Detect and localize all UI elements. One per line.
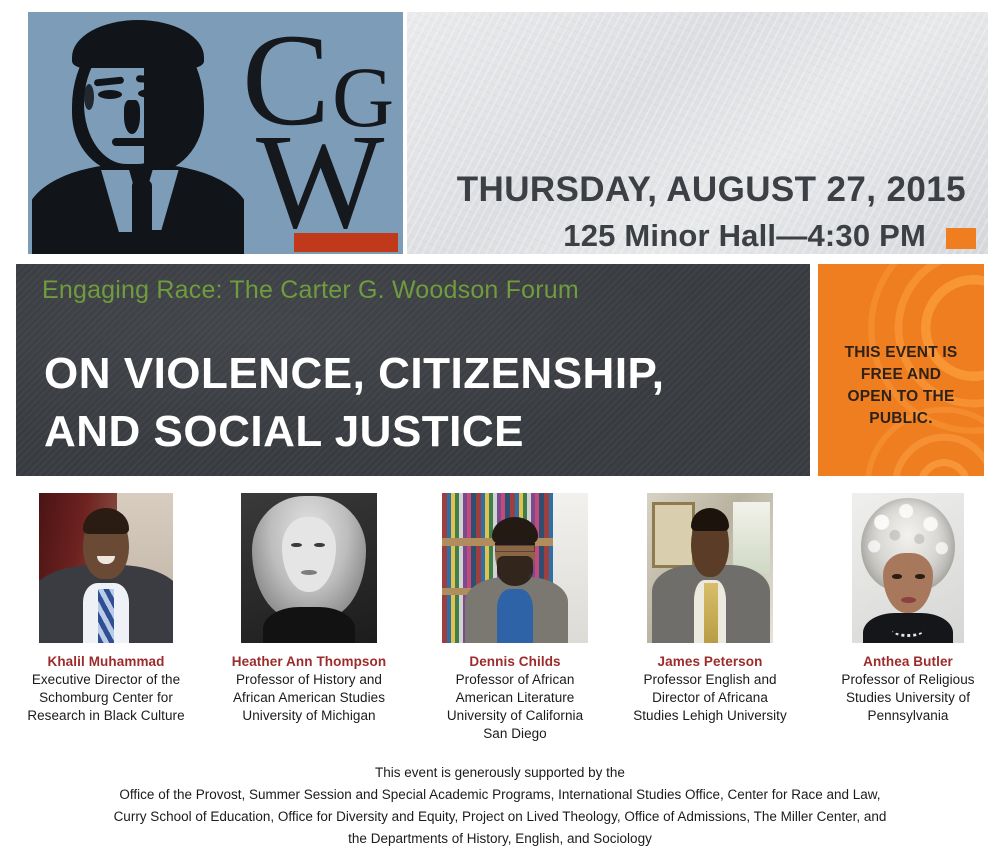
speaker-role-line: Research in Black Culture	[11, 707, 201, 725]
speaker-role: Professor of African American Literature…	[422, 671, 608, 743]
speaker-photo-dennis-childs	[441, 492, 589, 644]
speaker-photo-anthea-butler	[851, 492, 965, 644]
free-line-1: THIS EVENT IS	[818, 342, 984, 364]
poster-header: C G W THURSDAY, AUGUST 27, 2015 125 Mino…	[0, 0, 1000, 258]
speaker-name: Dennis Childs	[422, 653, 608, 671]
speaker-anthea-butler: Anthea Butler Professor of Religious Stu…	[851, 492, 965, 725]
date-accent-block	[946, 228, 976, 249]
speaker-role-line: Studies University of	[825, 689, 991, 707]
sponsors-line: This event is generously supported by th…	[0, 762, 1000, 784]
cgw-monogram: C G W	[236, 12, 403, 254]
speaker-role-line: African American Studies	[211, 689, 407, 707]
free-line-4: PUBLIC.	[818, 408, 984, 430]
speaker-name: Khalil Muhammad	[11, 653, 201, 671]
speaker-role-line: University of Michigan	[211, 707, 407, 725]
sponsors-block: This event is generously supported by th…	[0, 762, 1000, 849]
speaker-caption: James Peterson Professor English and Dir…	[612, 653, 808, 725]
speaker-role-line: University of California	[422, 707, 608, 725]
free-line-3: OPEN TO THE	[818, 386, 984, 408]
event-date: THURSDAY, AUGUST 27, 2015	[457, 170, 966, 210]
title-band: Engaging Race: The Carter G. Woodson For…	[16, 264, 810, 476]
speaker-role-line: Professor English and	[612, 671, 808, 689]
speaker-list: Khalil Muhammad Executive Director of th…	[0, 492, 1000, 762]
monogram-letter-w: W	[256, 114, 384, 250]
speaker-role-line: San Diego	[422, 725, 608, 743]
speaker-role-line: Executive Director of the	[11, 671, 201, 689]
woodson-portrait-icon	[32, 12, 244, 254]
sponsors-line: Office of the Provost, Summer Session an…	[0, 784, 1000, 806]
free-admission-box: THIS EVENT IS FREE AND OPEN TO THE PUBLI…	[818, 264, 984, 476]
woodson-logo-panel: C G W	[28, 12, 403, 254]
speaker-role: Executive Director of the Schomburg Cent…	[11, 671, 201, 725]
speaker-photo-khalil-muhammad	[38, 492, 174, 644]
free-admission-text: THIS EVENT IS FREE AND OPEN TO THE PUBLI…	[818, 342, 984, 430]
speaker-james-peterson: James Peterson Professor English and Dir…	[646, 492, 774, 725]
poster-title-line-2: AND SOCIAL JUSTICE	[44, 407, 524, 457]
speaker-role-line: Director of Africana	[612, 689, 808, 707]
speaker-caption: Dennis Childs Professor of African Ameri…	[422, 653, 608, 743]
speaker-role-line: Studies Lehigh University	[612, 707, 808, 725]
speaker-caption: Heather Ann Thompson Professor of Histor…	[211, 653, 407, 725]
speaker-role-line: Professor of History and	[211, 671, 407, 689]
speaker-role: Professor of Religious Studies Universit…	[825, 671, 991, 725]
monogram-accent-bar	[294, 233, 398, 252]
speaker-role: Professor English and Director of Africa…	[612, 671, 808, 725]
speaker-photo-heather-ann-thompson	[240, 492, 378, 644]
speaker-khalil-muhammad: Khalil Muhammad Executive Director of th…	[38, 492, 188, 725]
sponsors-line: the Departments of History, English, and…	[0, 828, 1000, 850]
speaker-dennis-childs: Dennis Childs Professor of African Ameri…	[441, 492, 589, 743]
speaker-photo-james-peterson	[646, 492, 774, 644]
poster-title-line-1: ON VIOLENCE, CITIZENSHIP,	[44, 349, 664, 399]
speaker-heather-ann-thompson: Heather Ann Thompson Professor of Histor…	[240, 492, 380, 725]
event-date-panel: THURSDAY, AUGUST 27, 2015 125 Minor Hall…	[407, 12, 988, 254]
speaker-role-line: American Literature	[422, 689, 608, 707]
event-location-time: 125 Minor Hall—4:30 PM	[563, 218, 926, 254]
speaker-caption: Anthea Butler Professor of Religious Stu…	[825, 653, 991, 725]
free-line-2: FREE AND	[818, 364, 984, 386]
speaker-caption: Khalil Muhammad Executive Director of th…	[11, 653, 201, 725]
speaker-role-line: Pennsylvania	[825, 707, 991, 725]
forum-subtitle: Engaging Race: The Carter G. Woodson For…	[42, 276, 579, 305]
speaker-name: Heather Ann Thompson	[211, 653, 407, 671]
speaker-role-line: Professor of Religious	[825, 671, 991, 689]
speaker-name: Anthea Butler	[825, 653, 991, 671]
speaker-role-line: Schomburg Center for	[11, 689, 201, 707]
speaker-role-line: Professor of African	[422, 671, 608, 689]
speaker-name: James Peterson	[612, 653, 808, 671]
speaker-role: Professor of History and African America…	[211, 671, 407, 725]
sponsors-line: Curry School of Education, Office for Di…	[0, 806, 1000, 828]
